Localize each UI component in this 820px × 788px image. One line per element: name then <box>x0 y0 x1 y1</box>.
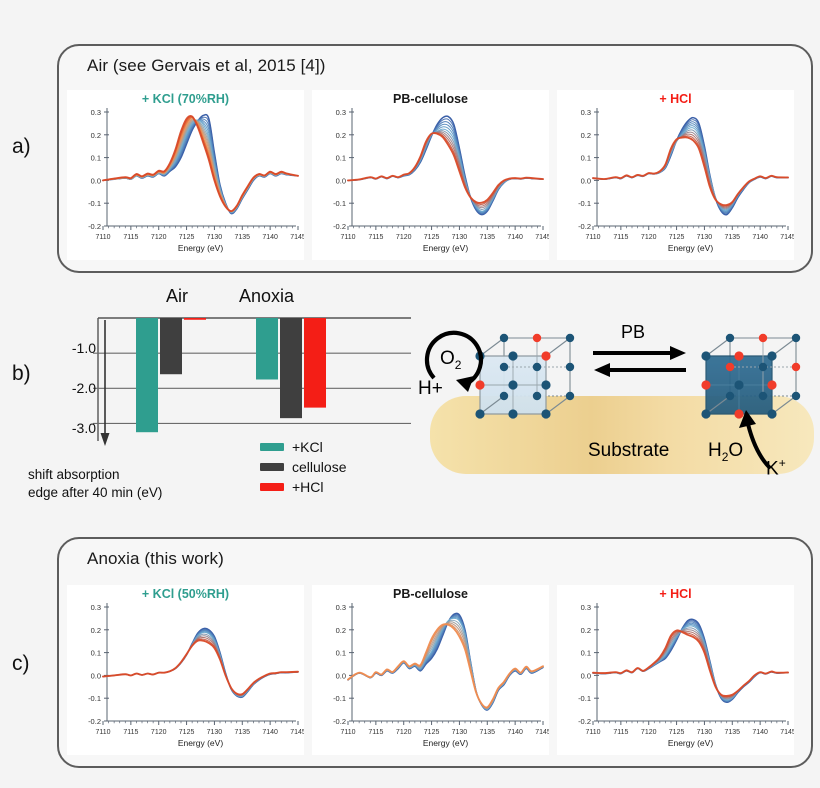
panel-letter-b: b) <box>12 362 31 386</box>
svg-text:7145: 7145 <box>780 234 794 241</box>
bar-ytick-3: -3.0 <box>52 420 96 436</box>
plot-card-c-pb: PB-cellulose -0.2-0.10.00.10.20.37110711… <box>312 585 549 755</box>
svg-text:0.0: 0.0 <box>581 671 591 680</box>
svg-text:0.2: 0.2 <box>581 626 591 635</box>
downward-arrow-icon <box>96 320 114 450</box>
plot-card-a-hcl: + HCl -0.2-0.10.00.10.20.371107115712071… <box>557 90 794 260</box>
svg-text:7145: 7145 <box>535 234 549 241</box>
plot-card-c-hcl: + HCl -0.2-0.10.00.10.20.371107115712071… <box>557 585 794 755</box>
svg-text:7110: 7110 <box>340 729 355 736</box>
bar-group-label-anoxia: Anoxia <box>239 286 294 307</box>
svg-text:7145: 7145 <box>535 729 549 736</box>
svg-text:7120: 7120 <box>396 234 412 241</box>
svg-text:7145: 7145 <box>290 729 304 736</box>
svg-text:7130: 7130 <box>452 729 468 736</box>
reaction-schematic-svg <box>418 300 818 500</box>
label-h2o: H2O <box>708 440 743 464</box>
svg-text:7115: 7115 <box>123 234 138 241</box>
svg-text:7115: 7115 <box>613 729 628 736</box>
figure-root: a) Air (see Gervais et al, 2015 [4]) + K… <box>0 0 820 788</box>
svg-text:7110: 7110 <box>95 234 110 241</box>
spectra-plot-c-hcl: -0.2-0.10.00.10.20.371107115712071257130… <box>557 585 794 755</box>
svg-text:7130: 7130 <box>697 729 713 736</box>
svg-text:Energy (eV): Energy (eV) <box>178 738 224 748</box>
svg-text:7125: 7125 <box>424 234 440 241</box>
svg-text:7130: 7130 <box>452 234 468 241</box>
legend-row-kcl: +KCl <box>260 438 346 456</box>
label-k-plus: K+ <box>766 456 786 480</box>
svg-text:Energy (eV): Energy (eV) <box>668 243 714 253</box>
bar-ytick-2: -2.0 <box>52 380 96 396</box>
svg-text:0.2: 0.2 <box>336 626 346 635</box>
svg-text:7130: 7130 <box>207 729 223 736</box>
equilibrium-arrows-icon <box>593 346 686 377</box>
spectra-plot-c-kcl: -0.2-0.10.00.10.20.371107115712071257130… <box>67 585 304 755</box>
spectra-plot-c-pb: -0.2-0.10.00.10.20.371107115712071257130… <box>312 585 549 755</box>
svg-text:0.1: 0.1 <box>336 154 346 163</box>
legend-label-kcl: +KCl <box>292 439 323 455</box>
legend-row-hcl: +HCl <box>260 478 346 496</box>
plot-card-a-pb: PB-cellulose -0.2-0.10.00.10.20.37110711… <box>312 90 549 260</box>
label-pb: PB <box>621 322 645 343</box>
label-h-plus: H+ <box>418 378 443 400</box>
svg-text:0.3: 0.3 <box>336 603 346 612</box>
svg-text:-0.2: -0.2 <box>333 717 346 726</box>
legend-label-hcl: +HCl <box>292 479 324 495</box>
svg-text:-0.1: -0.1 <box>333 694 346 703</box>
svg-text:-0.2: -0.2 <box>88 222 101 231</box>
svg-text:0.3: 0.3 <box>91 108 101 117</box>
svg-text:0.2: 0.2 <box>91 131 101 140</box>
svg-text:7130: 7130 <box>697 234 713 241</box>
reaction-schematic: O2 H+ PB Substrate H2O K+ <box>418 300 818 500</box>
svg-text:-0.1: -0.1 <box>333 199 346 208</box>
svg-text:7115: 7115 <box>613 234 628 241</box>
plot-card-a-kcl: + KCl (70%RH) -0.2-0.10.00.10.20.3711071… <box>67 90 304 260</box>
spectra-plot-a-hcl: -0.2-0.10.00.10.20.371107115712071257130… <box>557 90 794 260</box>
svg-text:0.0: 0.0 <box>581 176 591 185</box>
bar-ytick-1: -1.0 <box>52 340 96 356</box>
svg-text:Energy (eV): Energy (eV) <box>423 738 469 748</box>
svg-text:7135: 7135 <box>234 234 250 241</box>
panel-letter-c: c) <box>12 652 30 676</box>
svg-text:7140: 7140 <box>507 234 523 241</box>
plot-card-c-kcl: + KCl (50%RH) -0.2-0.10.00.10.20.3711071… <box>67 585 304 755</box>
svg-text:0.2: 0.2 <box>336 131 346 140</box>
panel-c-title: Anoxia (this work) <box>87 549 224 569</box>
svg-text:0.3: 0.3 <box>581 108 591 117</box>
svg-text:0.0: 0.0 <box>91 671 101 680</box>
legend-swatch-cellulose <box>260 463 284 471</box>
svg-text:7135: 7135 <box>234 729 250 736</box>
svg-text:0.2: 0.2 <box>581 131 591 140</box>
svg-text:7110: 7110 <box>340 234 355 241</box>
svg-text:-0.2: -0.2 <box>88 717 101 726</box>
svg-text:7140: 7140 <box>262 234 278 241</box>
svg-text:7115: 7115 <box>368 234 383 241</box>
svg-text:-0.2: -0.2 <box>578 717 591 726</box>
svg-text:7130: 7130 <box>207 234 223 241</box>
svg-text:0.0: 0.0 <box>336 671 346 680</box>
svg-text:7145: 7145 <box>780 729 794 736</box>
svg-text:0.0: 0.0 <box>91 176 101 185</box>
legend-row-cellulose: cellulose <box>260 458 346 476</box>
svg-text:-0.2: -0.2 <box>333 222 346 231</box>
bar-group-label-air: Air <box>166 286 188 307</box>
svg-text:7135: 7135 <box>724 729 740 736</box>
panel-letter-a: a) <box>12 135 31 159</box>
svg-text:-0.1: -0.1 <box>88 199 101 208</box>
svg-text:0.1: 0.1 <box>91 154 101 163</box>
svg-text:-0.1: -0.1 <box>578 199 591 208</box>
svg-text:7110: 7110 <box>585 729 600 736</box>
bar-legend: +KCl cellulose +HCl <box>260 438 346 498</box>
svg-text:7140: 7140 <box>507 729 523 736</box>
svg-text:7140: 7140 <box>752 234 768 241</box>
svg-text:7120: 7120 <box>151 234 167 241</box>
svg-text:0.1: 0.1 <box>581 154 591 163</box>
label-substrate: Substrate <box>588 440 669 462</box>
svg-text:7120: 7120 <box>641 234 657 241</box>
svg-text:7145: 7145 <box>290 234 304 241</box>
svg-text:Energy (eV): Energy (eV) <box>178 243 224 253</box>
svg-text:0.1: 0.1 <box>336 649 346 658</box>
svg-text:0.1: 0.1 <box>91 649 101 658</box>
svg-text:0.3: 0.3 <box>336 108 346 117</box>
svg-text:-0.1: -0.1 <box>578 694 591 703</box>
svg-text:7135: 7135 <box>724 234 740 241</box>
svg-text:7140: 7140 <box>262 729 278 736</box>
svg-text:7125: 7125 <box>669 234 685 241</box>
svg-text:Energy (eV): Energy (eV) <box>668 738 714 748</box>
svg-text:7125: 7125 <box>179 729 195 736</box>
svg-text:7125: 7125 <box>424 729 440 736</box>
svg-text:0.3: 0.3 <box>581 603 591 612</box>
svg-text:-0.1: -0.1 <box>88 694 101 703</box>
svg-text:7135: 7135 <box>479 234 495 241</box>
panel-a-box: Air (see Gervais et al, 2015 [4]) + KCl … <box>57 44 813 273</box>
spectra-plot-a-kcl: -0.2-0.10.00.10.20.371107115712071257130… <box>67 90 304 260</box>
bar-caption-line1: shift absorption <box>28 466 120 484</box>
svg-text:7115: 7115 <box>368 729 383 736</box>
svg-text:7125: 7125 <box>179 234 195 241</box>
svg-text:0.3: 0.3 <box>91 603 101 612</box>
svg-text:7125: 7125 <box>669 729 685 736</box>
svg-text:0.2: 0.2 <box>91 626 101 635</box>
svg-text:7110: 7110 <box>585 234 600 241</box>
svg-text:-0.2: -0.2 <box>578 222 591 231</box>
bar-caption-line2: edge after 40 min (eV) <box>28 484 162 502</box>
svg-text:7110: 7110 <box>95 729 110 736</box>
svg-text:0.0: 0.0 <box>336 176 346 185</box>
svg-text:7120: 7120 <box>641 729 657 736</box>
svg-text:7115: 7115 <box>123 729 138 736</box>
panel-a-title: Air (see Gervais et al, 2015 [4]) <box>87 56 326 76</box>
spectra-plot-a-pb: -0.2-0.10.00.10.20.371107115712071257130… <box>312 90 549 260</box>
svg-text:7120: 7120 <box>396 729 412 736</box>
svg-text:7135: 7135 <box>479 729 495 736</box>
svg-text:7140: 7140 <box>752 729 768 736</box>
svg-text:Energy (eV): Energy (eV) <box>423 243 469 253</box>
panel-c-box: Anoxia (this work) + KCl (50%RH) -0.2-0.… <box>57 537 813 768</box>
legend-label-cellulose: cellulose <box>292 459 346 475</box>
svg-text:0.1: 0.1 <box>581 649 591 658</box>
svg-text:7120: 7120 <box>151 729 167 736</box>
legend-swatch-hcl <box>260 483 284 491</box>
legend-swatch-kcl <box>260 443 284 451</box>
label-o2: O2 <box>440 348 461 372</box>
